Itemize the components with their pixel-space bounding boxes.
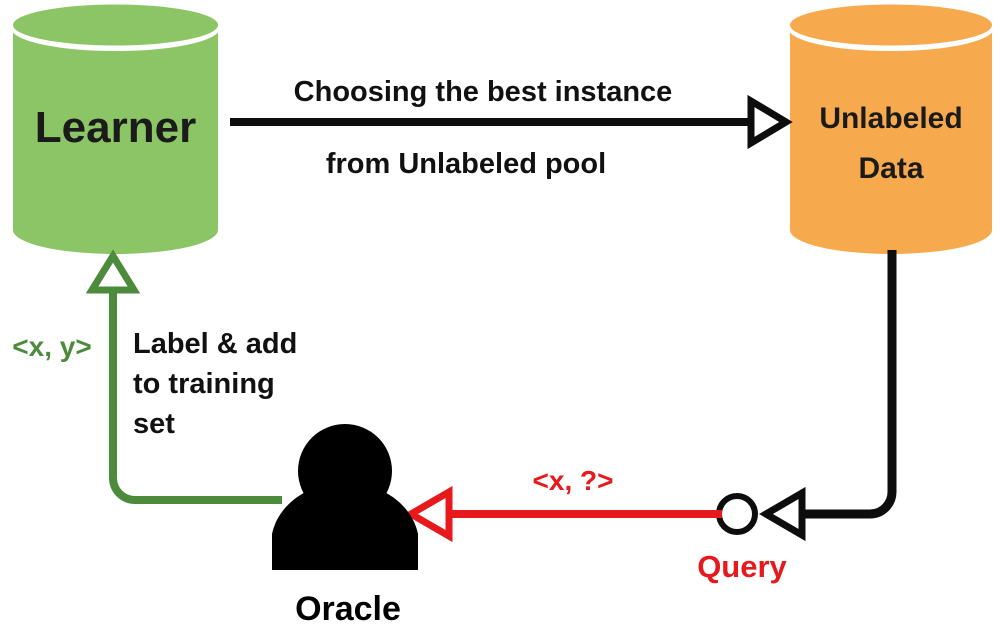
edge-line bbox=[800, 250, 892, 514]
edge-label-xy-tag: <x, y> bbox=[12, 331, 91, 362]
edge-label-line1: Label & add bbox=[133, 328, 297, 360]
edge-learner-to-unlabeled[interactable]: Choosing the best instance from Unlabele… bbox=[230, 76, 786, 180]
query-circle bbox=[719, 496, 755, 532]
diagram-canvas: Learner Unlabeled Data Choosing the best… bbox=[0, 0, 1000, 626]
arrowhead-left-icon bbox=[766, 493, 802, 535]
edge-label-line2: to training bbox=[133, 368, 275, 400]
node-learner[interactable]: Learner bbox=[13, 5, 218, 255]
edge-oracle-to-learner[interactable]: <x, y> Label & add to training set bbox=[12, 256, 297, 500]
edge-label-line2: from Unlabeled pool bbox=[326, 148, 606, 180]
unlabeled-label-line2: Data bbox=[858, 152, 923, 185]
edge-label-line1: Choosing the best instance bbox=[294, 76, 673, 108]
edge-label-line3: set bbox=[133, 408, 175, 440]
learner-cylinder-top bbox=[13, 5, 218, 46]
learner-label: Learner bbox=[35, 103, 196, 152]
arrowhead-right-icon bbox=[751, 101, 786, 143]
edge-label-x-question: <x, ?> bbox=[533, 465, 614, 496]
query-label: Query bbox=[697, 549, 787, 584]
oracle-label: Oracle bbox=[295, 590, 401, 626]
unlabeled-label-line1: Unlabeled bbox=[819, 102, 962, 135]
edge-query-to-oracle[interactable]: <x, ?> bbox=[411, 465, 722, 536]
node-oracle[interactable]: Oracle bbox=[272, 424, 418, 626]
unlabeled-cylinder-top bbox=[790, 5, 992, 46]
unlabeled-cylinder-body bbox=[790, 26, 992, 254]
active-learning-diagram: Learner Unlabeled Data Choosing the best… bbox=[0, 0, 1000, 626]
edge-unlabeled-to-query[interactable] bbox=[766, 250, 892, 535]
arrowhead-up-icon bbox=[92, 256, 134, 290]
node-unlabeled-data[interactable]: Unlabeled Data bbox=[790, 5, 992, 255]
